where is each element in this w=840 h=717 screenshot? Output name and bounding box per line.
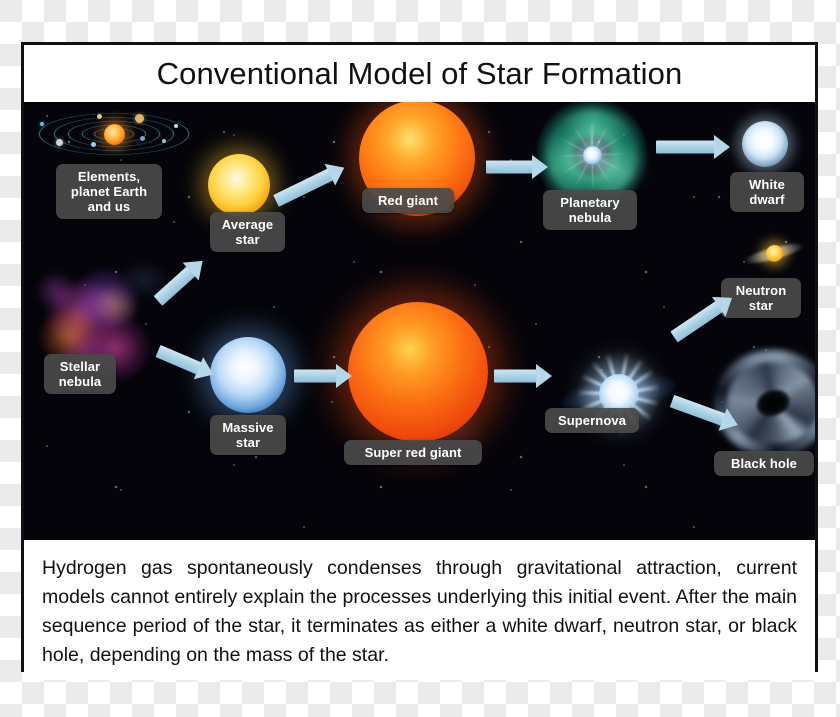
page-title: Conventional Model of Star Formation xyxy=(157,56,683,92)
planet-6 xyxy=(140,136,145,141)
nebula-blob-7 xyxy=(36,272,76,310)
label-planetary-nebula: Planetary nebula xyxy=(543,190,637,230)
arrow-planetary-nebula-to-white-dwarf xyxy=(656,134,734,160)
caption-panel: Hydrogen gas spontaneously condenses thr… xyxy=(24,540,815,680)
label-white-dwarf: White dwarf xyxy=(730,172,804,212)
arrow-massive-star-to-super-red-giant xyxy=(294,363,356,389)
star-formation-diagram: Elements, planet Earth and us Stellar ne… xyxy=(24,102,815,540)
label-massive-star: Massive star xyxy=(210,415,286,455)
solar-system-icon xyxy=(34,104,194,164)
sun-icon xyxy=(104,124,125,145)
average-star-icon xyxy=(208,154,270,216)
neutron-star-core xyxy=(766,245,783,262)
massive-star-icon xyxy=(210,337,286,413)
nebula-blob-6 xyxy=(94,286,138,326)
poster-frame: Conventional Model of Star Formation Ele… xyxy=(21,42,818,672)
neutron-star-icon xyxy=(736,230,812,276)
white-dwarf-icon xyxy=(742,121,788,167)
label-super-red-giant: Super red giant xyxy=(344,440,482,465)
planet-1 xyxy=(56,139,63,146)
label-average-star: Average star xyxy=(210,212,285,252)
planet-5 xyxy=(135,114,144,123)
title-bar: Conventional Model of Star Formation xyxy=(24,45,815,102)
planet-2 xyxy=(40,122,44,126)
planet-4 xyxy=(97,114,102,119)
label-supernova: Supernova xyxy=(545,408,639,433)
nebula-core-star xyxy=(583,146,602,165)
arrow-average-star-to-red-giant xyxy=(270,152,357,212)
planet-8 xyxy=(174,124,178,128)
label-red-giant: Red giant xyxy=(362,188,454,213)
super-red-giant-icon xyxy=(348,302,488,442)
arrow-nebula-to-massive-star xyxy=(153,339,220,387)
arrow-red-giant-to-planetary-nebula xyxy=(486,154,552,180)
caption-text: Hydrogen gas spontaneously condenses thr… xyxy=(42,554,797,670)
label-black-hole: Black hole xyxy=(714,451,814,476)
supernova-icon xyxy=(559,334,679,454)
black-hole-icon xyxy=(714,350,815,456)
planet-7 xyxy=(162,139,166,143)
arrow-super-red-giant-to-supernova xyxy=(494,363,556,389)
planet-3 xyxy=(91,142,96,147)
label-elements-planet-earth-and-us: Elements, planet Earth and us xyxy=(56,164,162,219)
label-stellar-nebula: Stellar nebula xyxy=(44,354,116,394)
